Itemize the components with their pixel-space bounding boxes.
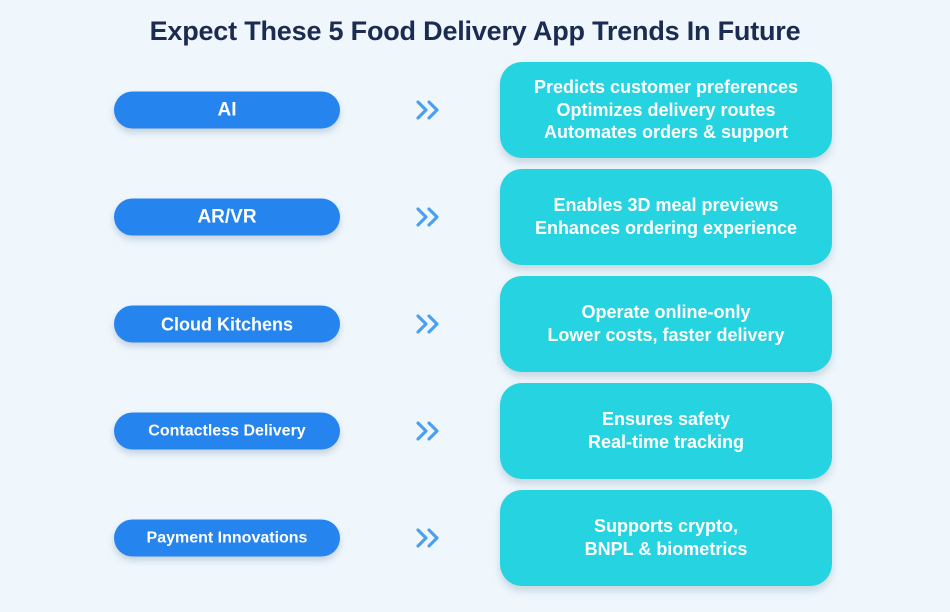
trend-benefit-line: Real-time tracking <box>588 431 744 454</box>
trend-benefit-line: Supports crypto, <box>594 515 738 538</box>
trend-pill-label: AR/VR <box>197 208 256 227</box>
trend-pill[interactable]: AI <box>114 92 340 129</box>
trend-row: Cloud KitchensOperate online-onlyLower c… <box>0 276 950 372</box>
trend-benefit-card[interactable]: Predicts customer preferencesOptimizes d… <box>500 62 832 158</box>
double-chevron-right-icon <box>405 523 453 553</box>
double-chevron-right-icon <box>405 309 453 339</box>
double-chevron-right-icon <box>405 416 453 446</box>
trend-benefit-card[interactable]: Supports crypto,BNPL & biometrics <box>500 490 832 586</box>
trend-pill[interactable]: Payment Innovations <box>114 520 340 557</box>
trend-benefit-line: Lower costs, faster delivery <box>547 324 784 347</box>
trend-pill-label: AI <box>218 101 237 120</box>
trend-row: Contactless DeliveryEnsures safetyReal-t… <box>0 383 950 479</box>
trend-pill-label: Contactless Delivery <box>148 423 305 439</box>
page-title: Expect These 5 Food Delivery App Trends … <box>0 16 950 47</box>
trend-row: Payment InnovationsSupports crypto,BNPL … <box>0 490 950 586</box>
trend-pill[interactable]: Contactless Delivery <box>114 413 340 450</box>
trend-benefit-card[interactable]: Operate online-onlyLower costs, faster d… <box>500 276 832 372</box>
trend-pill-label: Cloud Kitchens <box>161 315 293 333</box>
trend-benefit-card[interactable]: Enables 3D meal previewsEnhances orderin… <box>500 169 832 265</box>
trend-pill[interactable]: AR/VR <box>114 199 340 236</box>
double-chevron-right-icon <box>405 202 453 232</box>
trend-benefit-line: Operate online-only <box>581 301 750 324</box>
trend-benefit-line: Automates orders & support <box>544 121 788 144</box>
trend-pill[interactable]: Cloud Kitchens <box>114 306 340 343</box>
trend-benefit-line: Enables 3D meal previews <box>553 194 778 217</box>
trend-rows-list: AIPredicts customer preferencesOptimizes… <box>0 62 950 582</box>
trend-benefit-line: BNPL & biometrics <box>585 538 748 561</box>
double-chevron-right-icon <box>405 95 453 125</box>
infographic-container: Expect These 5 Food Delivery App Trends … <box>0 0 950 612</box>
trend-row: AIPredicts customer preferencesOptimizes… <box>0 62 950 158</box>
trend-benefit-line: Ensures safety <box>602 408 730 431</box>
trend-pill-label: Payment Innovations <box>147 530 308 546</box>
trend-row: AR/VREnables 3D meal previewsEnhances or… <box>0 169 950 265</box>
trend-benefit-line: Optimizes delivery routes <box>556 99 775 122</box>
trend-benefit-line: Predicts customer preferences <box>534 76 798 99</box>
trend-benefit-line: Enhances ordering experience <box>535 217 797 240</box>
trend-benefit-card[interactable]: Ensures safetyReal-time tracking <box>500 383 832 479</box>
